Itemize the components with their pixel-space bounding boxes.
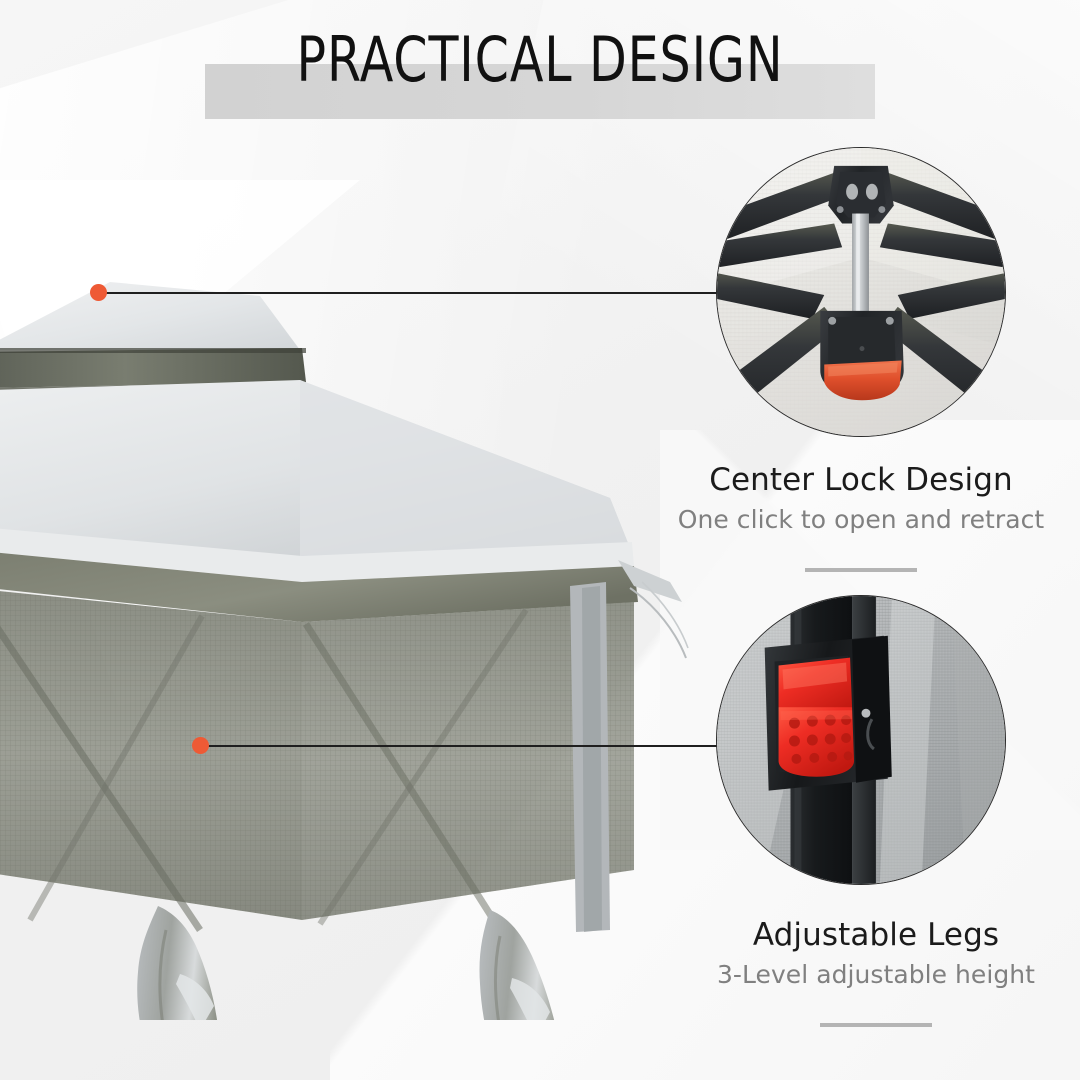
page-title-group: PRACTICAL DESIGN <box>0 14 1080 124</box>
marker-dot-adjustable-legs <box>192 737 209 754</box>
feature-title-adjustable-legs: Adjustable Legs <box>666 917 1080 954</box>
leader-line-center-lock <box>98 292 744 294</box>
feature-block-adjustable-legs: Adjustable Legs 3-Level adjustable heigh… <box>666 917 1080 1027</box>
feature-divider-center-lock <box>805 568 917 572</box>
feature-subtitle-center-lock: One click to open and retract <box>651 504 1071 535</box>
marker-dot-center-lock <box>90 284 107 301</box>
feature-title-center-lock: Center Lock Design <box>651 462 1071 499</box>
leader-line-adjustable-legs <box>200 745 744 747</box>
feature-divider-adjustable-legs <box>820 1023 932 1027</box>
center-lock-detail-photo <box>716 147 1006 437</box>
infographic-canvas: PRACTICAL DESIGN <box>0 0 1080 1080</box>
page-title: PRACTICAL DESIGN <box>65 14 1015 106</box>
gazebo-product-illustration <box>0 230 690 1020</box>
feature-block-center-lock: Center Lock Design One click to open and… <box>651 462 1071 572</box>
feature-subtitle-adjustable-legs: 3-Level adjustable height <box>666 959 1080 990</box>
adjustable-leg-detail-photo <box>716 595 1006 885</box>
